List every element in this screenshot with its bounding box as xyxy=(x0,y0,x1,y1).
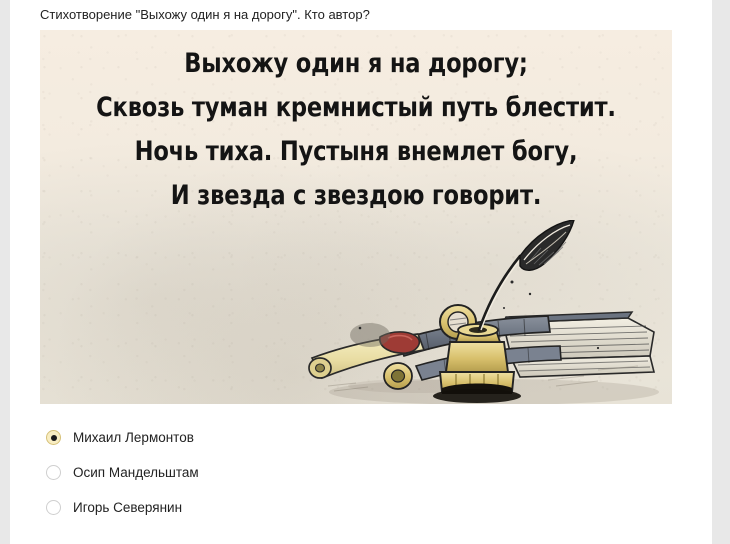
answer-option-1[interactable]: Осип Мандельштам xyxy=(40,455,712,490)
answer-option-label-1: Осип Мандельштам xyxy=(73,465,199,481)
poem-text-block: Выхожу один я на дорогу; Сквозь туман кр… xyxy=(40,42,672,218)
poem-line-3: Ночь тиха. Пустыня внемлет богу, xyxy=(62,130,650,174)
answer-option-label-2: Игорь Северянин xyxy=(73,500,182,516)
page-gutter-right xyxy=(712,0,730,544)
radio-button-icon[interactable] xyxy=(46,465,61,480)
quill-inkwell-books-illustration xyxy=(298,220,672,404)
poem-line-2: Сквозь туман кремнистый путь блестит. xyxy=(62,86,650,130)
answer-option-0[interactable]: Михаил Лермонтов xyxy=(40,420,712,455)
poem-line-4: И звезда с звездою говорит. xyxy=(62,174,650,218)
radio-button-selected-icon[interactable] xyxy=(46,430,61,445)
poem-line-1: Выхожу один я на дорогу; xyxy=(62,42,650,86)
page-gutter-left xyxy=(0,0,10,544)
answer-option-2[interactable]: Игорь Северянин xyxy=(40,490,712,525)
radio-button-icon[interactable] xyxy=(46,500,61,515)
answer-option-label-0: Михаил Лермонтов xyxy=(73,430,194,446)
poem-illustration-image: Выхожу один я на дорогу; Сквозь туман кр… xyxy=(40,30,672,404)
question-text: Стихотворение "Выхожу один я на дорогу".… xyxy=(40,7,370,23)
quiz-content-area: Стихотворение "Выхожу один я на дорогу".… xyxy=(11,0,712,544)
answer-options-list: Михаил Лермонтов Осип Мандельштам Игорь … xyxy=(40,420,712,525)
